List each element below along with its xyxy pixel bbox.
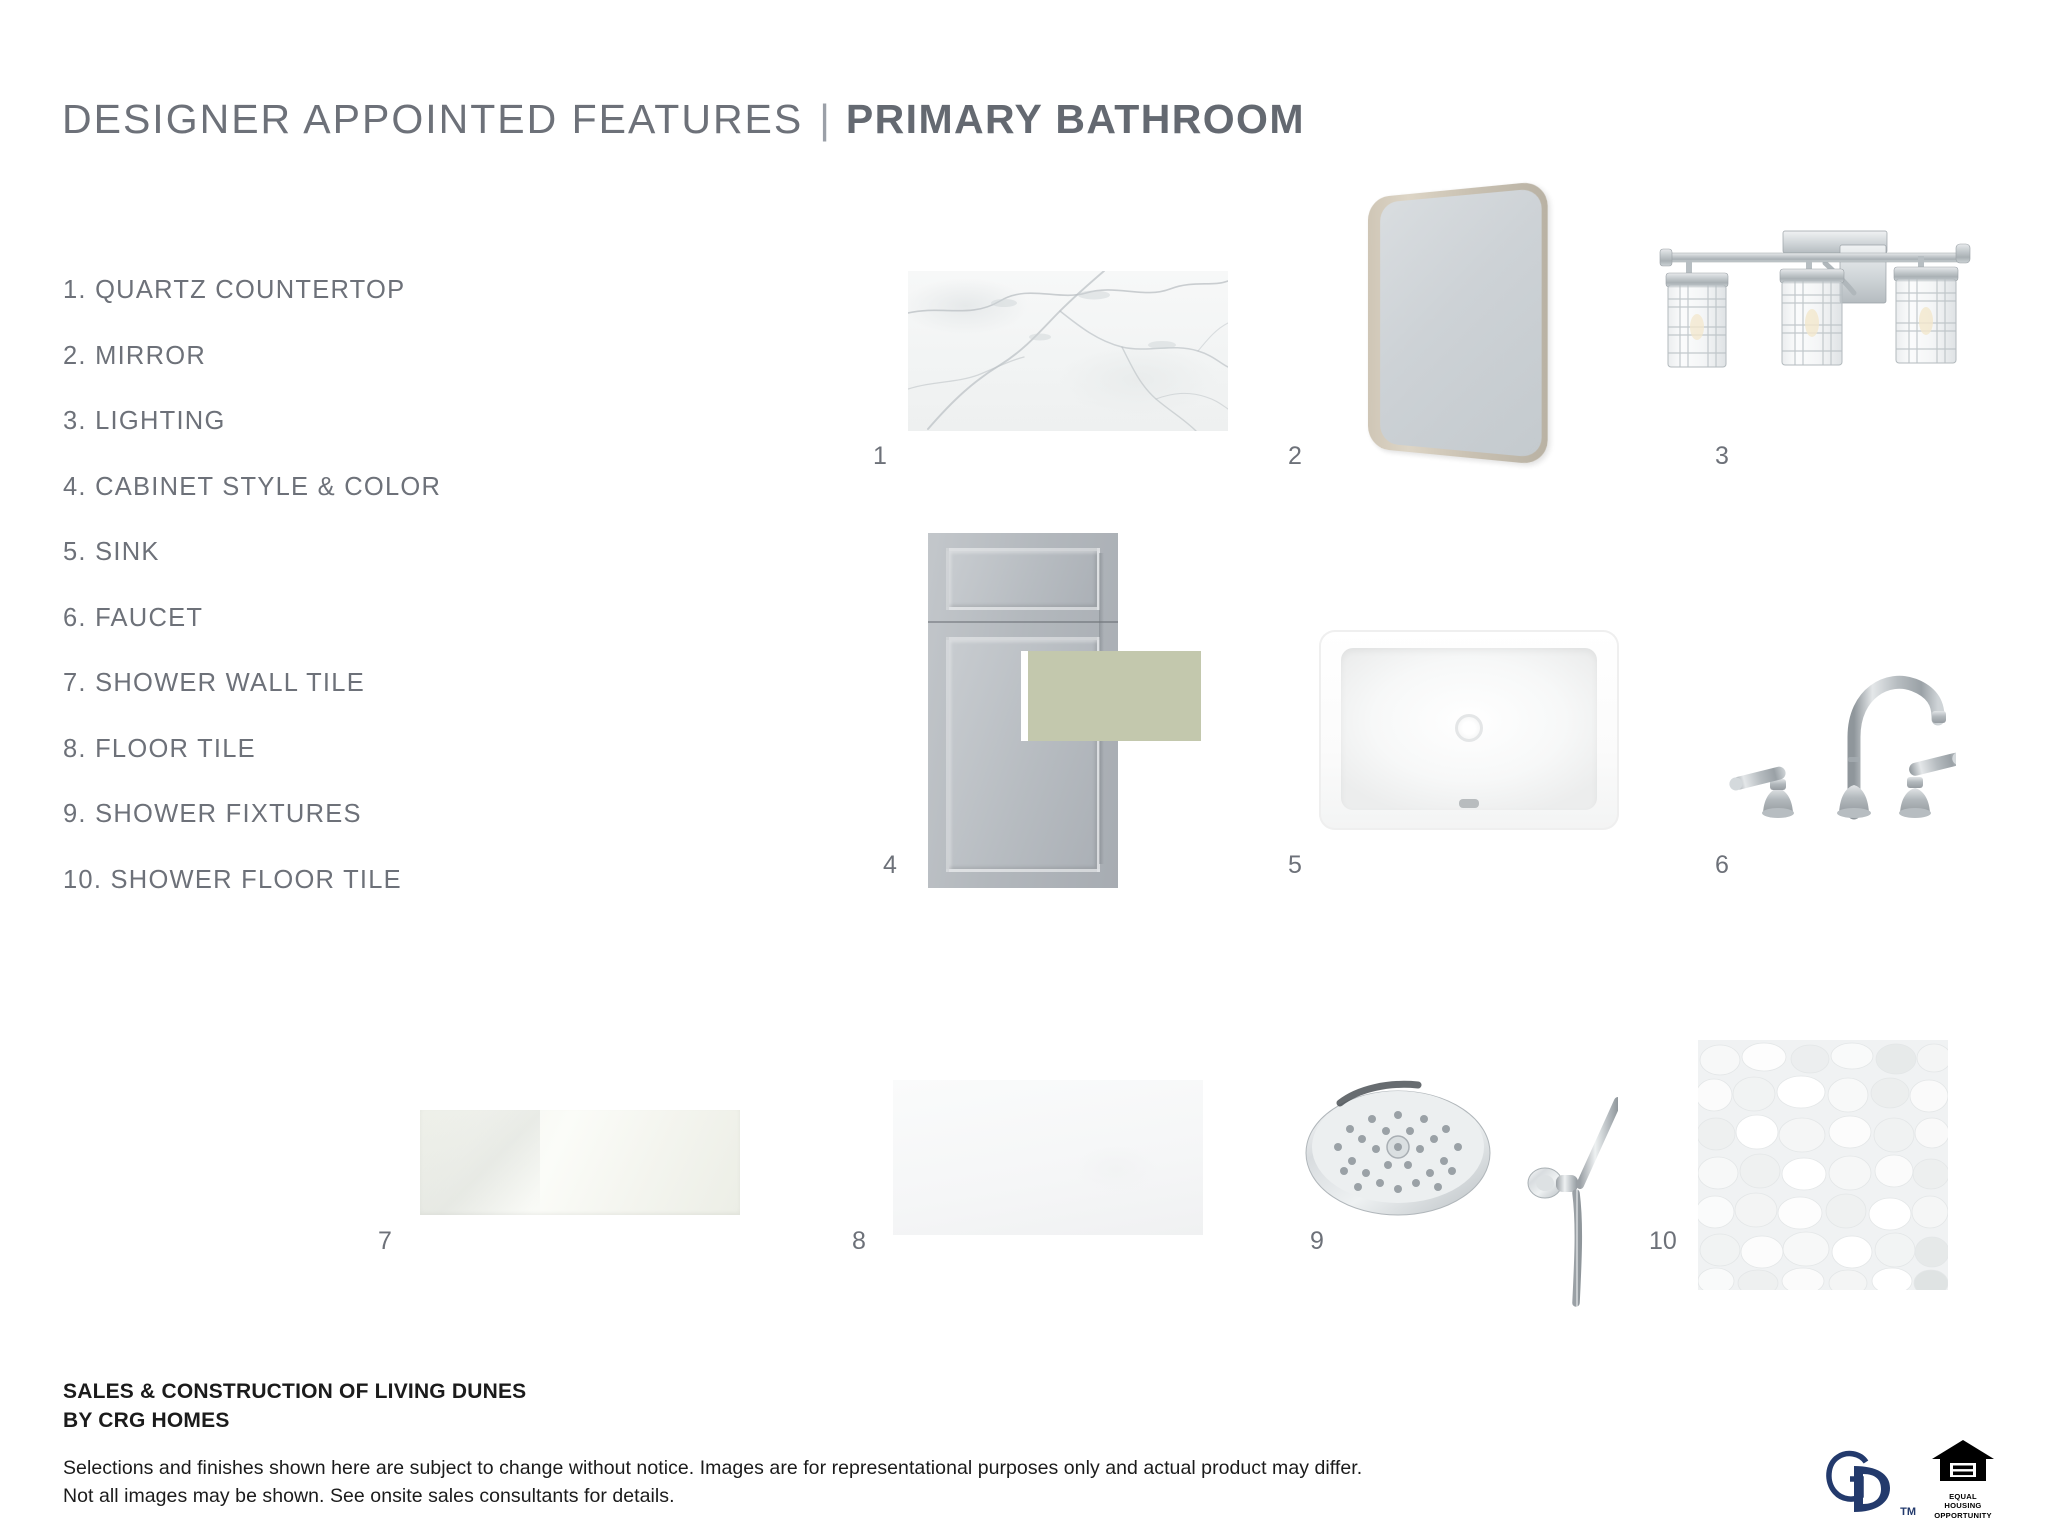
feature-item-shower-floor-tile: 10. SHOWER FLOOR TILE: [63, 868, 583, 894]
swatch-number-1: 1: [873, 444, 887, 469]
eho-caption-line2: OPPORTUNITY: [1930, 1511, 1996, 1520]
feature-item-lighting: 3. LIGHTING: [63, 409, 583, 435]
feature-item-shower-wall-tile: 7. SHOWER WALL TILE: [63, 671, 583, 697]
eho-caption-line1: EQUAL HOUSING: [1930, 1492, 1996, 1511]
swatch-number-10: 10: [1649, 1229, 1677, 1254]
footer-heading: SALES & CONSTRUCTION OF LIVING DUNES BY …: [63, 1378, 526, 1436]
cabinet-color-swatch: [1021, 651, 1201, 741]
sink-drain: [1455, 714, 1483, 742]
cabinet-seam: [928, 621, 1118, 623]
page-title: DESIGNER APPOINTED FEATURES | PRIMARY BA…: [62, 96, 1305, 143]
cabinet-drawer-panel: [946, 548, 1100, 610]
swatch-number-8: 8: [852, 1229, 866, 1254]
gd-trademark: TM: [1900, 1506, 1916, 1518]
footer-disclaimer: Selections and finishes shown here are s…: [63, 1455, 1362, 1510]
wall-tile-sheen: [420, 1110, 540, 1215]
swatch-number-4: 4: [883, 853, 897, 878]
footer-disclaimer-line2: Not all images may be shown. See onsite …: [63, 1483, 1362, 1511]
gd-logo: TM: [1820, 1446, 1904, 1520]
page-title-light: DESIGNER APPOINTED FEATURES: [62, 96, 803, 143]
footer-heading-line2: BY CRG HOMES: [63, 1407, 526, 1436]
mirror-body: [1368, 181, 1548, 466]
vanity-lighting-image: [1650, 215, 1980, 375]
equal-housing-caption: EQUAL HOUSING OPPORTUNITY: [1930, 1492, 1996, 1520]
footer-heading-line1: SALES & CONSTRUCTION OF LIVING DUNES: [63, 1378, 526, 1407]
footer-disclaimer-line1: Selections and finishes shown here are s…: [63, 1455, 1362, 1483]
swatch-number-2: 2: [1288, 444, 1302, 469]
feature-item-sink: 5. SINK: [63, 540, 583, 566]
floor-tile-swatch: [893, 1080, 1203, 1235]
feature-item-mirror: 2. MIRROR: [63, 344, 583, 370]
mirror-glass: [1380, 188, 1541, 458]
title-divider: |: [819, 96, 830, 143]
feature-item-cabinet-style-color: 4. CABINET STYLE & COLOR: [63, 475, 583, 501]
shower-floor-pebble-tile-swatch: [1698, 1040, 1948, 1290]
quartz-countertop-swatch: [908, 271, 1228, 431]
undermount-sink-image: [1319, 630, 1619, 830]
equal-housing-opportunity-logo: EQUAL HOUSING OPPORTUNITY: [1930, 1437, 1996, 1520]
swatch-number-7: 7: [378, 1229, 392, 1254]
swatch-number-3: 3: [1715, 444, 1729, 469]
swatch-number-5: 5: [1288, 853, 1302, 878]
feature-item-faucet: 6. FAUCET: [63, 606, 583, 632]
swatch-number-6: 6: [1715, 853, 1729, 878]
feature-item-shower-fixtures: 9. SHOWER FIXTURES: [63, 802, 583, 828]
mirror-image: [1368, 198, 1548, 448]
footer-logos: TM EQUAL HOUSING OPPORTUNITY: [1820, 1437, 1996, 1520]
feature-item-floor-tile: 8. FLOOR TILE: [63, 737, 583, 763]
feature-item-quartz-countertop: 1. QUARTZ COUNTERTOP: [63, 278, 583, 304]
swatch-number-9: 9: [1310, 1229, 1324, 1254]
shower-wall-tile-swatch: [420, 1110, 740, 1215]
feature-list: 1. QUARTZ COUNTERTOP 2. MIRROR 3. LIGHTI…: [63, 278, 583, 933]
faucet-image: [1706, 645, 1956, 825]
page-title-bold: PRIMARY BATHROOM: [846, 96, 1305, 143]
shower-fixtures-image: [1288, 1065, 1618, 1335]
sink-overflow: [1459, 799, 1479, 808]
